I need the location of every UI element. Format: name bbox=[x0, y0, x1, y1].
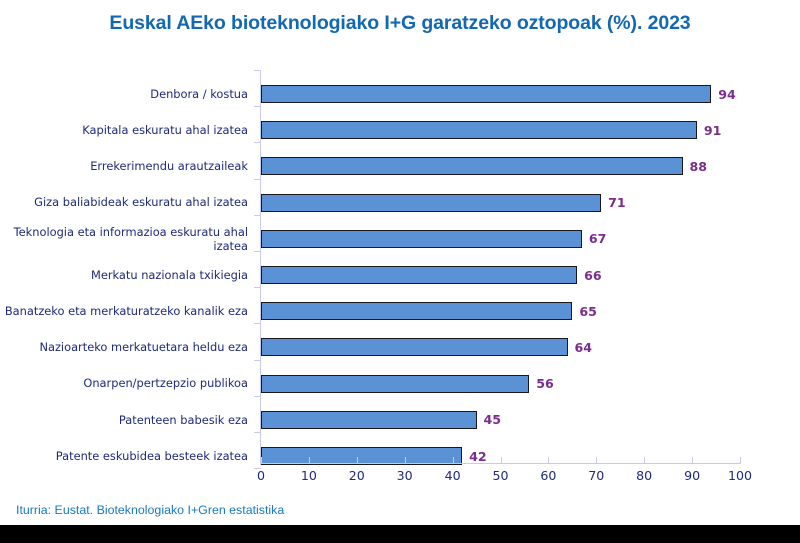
bar[interactable] bbox=[261, 266, 577, 284]
bar-value-label: 91 bbox=[704, 121, 722, 139]
bar-value-label: 94 bbox=[718, 85, 736, 103]
value-tick-label: 40 bbox=[445, 468, 461, 483]
source-note: Iturria: Eustat. Bioteknologiako I+Gren … bbox=[16, 503, 284, 517]
bar-row: Kapitala eskuratu ahal izatea91 bbox=[0, 112, 800, 148]
value-tick bbox=[357, 457, 358, 463]
value-axis: 0102030405060708090100 bbox=[0, 463, 800, 497]
value-tick bbox=[405, 457, 406, 463]
category-label: Teknologia eta informazioa eskuratu ahal… bbox=[0, 221, 248, 257]
value-tick bbox=[548, 457, 549, 463]
bar-value-label: 71 bbox=[608, 194, 626, 212]
category-tick bbox=[254, 70, 261, 71]
bar[interactable] bbox=[261, 121, 697, 139]
value-tick bbox=[644, 457, 645, 463]
bar-row: Errekerimendu arautzaileak88 bbox=[0, 148, 800, 184]
value-tick bbox=[596, 457, 597, 463]
bar-value-label: 45 bbox=[484, 411, 502, 429]
category-label: Nazioarteko merkatuetara heldu eza bbox=[0, 329, 248, 365]
category-label: Giza baliabideak eskuratu ahal izatea bbox=[0, 185, 248, 221]
bar-row: Nazioarteko merkatuetara heldu eza64 bbox=[0, 329, 800, 365]
bar-row: Banatzeko eta merkaturatzeko kanalik eza… bbox=[0, 293, 800, 329]
bar-value-label: 67 bbox=[589, 230, 607, 248]
value-tick-label: 60 bbox=[540, 468, 556, 483]
value-tick-label: 90 bbox=[684, 468, 700, 483]
bar[interactable] bbox=[261, 85, 711, 103]
value-tick bbox=[692, 457, 693, 463]
value-tick-label: 30 bbox=[397, 468, 413, 483]
value-tick bbox=[501, 457, 502, 463]
bar-value-label: 64 bbox=[575, 338, 593, 356]
page-title: Euskal AEko bioteknologiako I+G garatzek… bbox=[0, 12, 800, 35]
bar-row: Denbora / kostua94 bbox=[0, 76, 800, 112]
category-label: Merkatu nazionala txikiegia bbox=[0, 257, 248, 293]
bar-row: Patenteen babesik eza45 bbox=[0, 402, 800, 438]
bar-row: Onarpen/pertzepzio publikoa56 bbox=[0, 366, 800, 402]
chart-plot-area: Denbora / kostua94Kapitala eskuratu ahal… bbox=[0, 62, 800, 487]
value-tick-label: 20 bbox=[349, 468, 365, 483]
bar-value-label: 66 bbox=[584, 266, 602, 284]
bar[interactable] bbox=[261, 194, 601, 212]
bar[interactable] bbox=[261, 411, 477, 429]
category-label: Patenteen babesik eza bbox=[0, 402, 248, 438]
value-tick-label: 50 bbox=[492, 468, 508, 483]
value-tick-label: 100 bbox=[728, 468, 752, 483]
value-axis-line bbox=[260, 463, 741, 464]
bar-value-label: 88 bbox=[690, 157, 708, 175]
bar-row: Giza baliabideak eskuratu ahal izatea71 bbox=[0, 185, 800, 221]
bar[interactable] bbox=[261, 338, 568, 356]
bar[interactable] bbox=[261, 302, 572, 320]
value-tick bbox=[261, 457, 262, 463]
bar[interactable] bbox=[261, 375, 529, 393]
category-label: Kapitala eskuratu ahal izatea bbox=[0, 112, 248, 148]
value-tick-label: 80 bbox=[636, 468, 652, 483]
bar-row: Teknologia eta informazioa eskuratu ahal… bbox=[0, 221, 800, 257]
value-tick-label: 10 bbox=[301, 468, 317, 483]
value-tick bbox=[453, 457, 454, 463]
bottom-bar bbox=[0, 525, 800, 543]
value-tick bbox=[740, 457, 741, 463]
category-label: Errekerimendu arautzaileak bbox=[0, 148, 248, 184]
bar-value-label: 56 bbox=[536, 375, 554, 393]
category-label: Onarpen/pertzepzio publikoa bbox=[0, 366, 248, 402]
bar-value-label: 65 bbox=[579, 302, 597, 320]
value-tick-label: 0 bbox=[257, 468, 265, 483]
bar[interactable] bbox=[261, 230, 582, 248]
category-label: Denbora / kostua bbox=[0, 76, 248, 112]
bar[interactable] bbox=[261, 157, 683, 175]
category-label: Banatzeko eta merkaturatzeko kanalik eza bbox=[0, 293, 248, 329]
bar-row: Merkatu nazionala txikiegia66 bbox=[0, 257, 800, 293]
value-tick bbox=[309, 457, 310, 463]
value-tick-label: 70 bbox=[588, 468, 604, 483]
